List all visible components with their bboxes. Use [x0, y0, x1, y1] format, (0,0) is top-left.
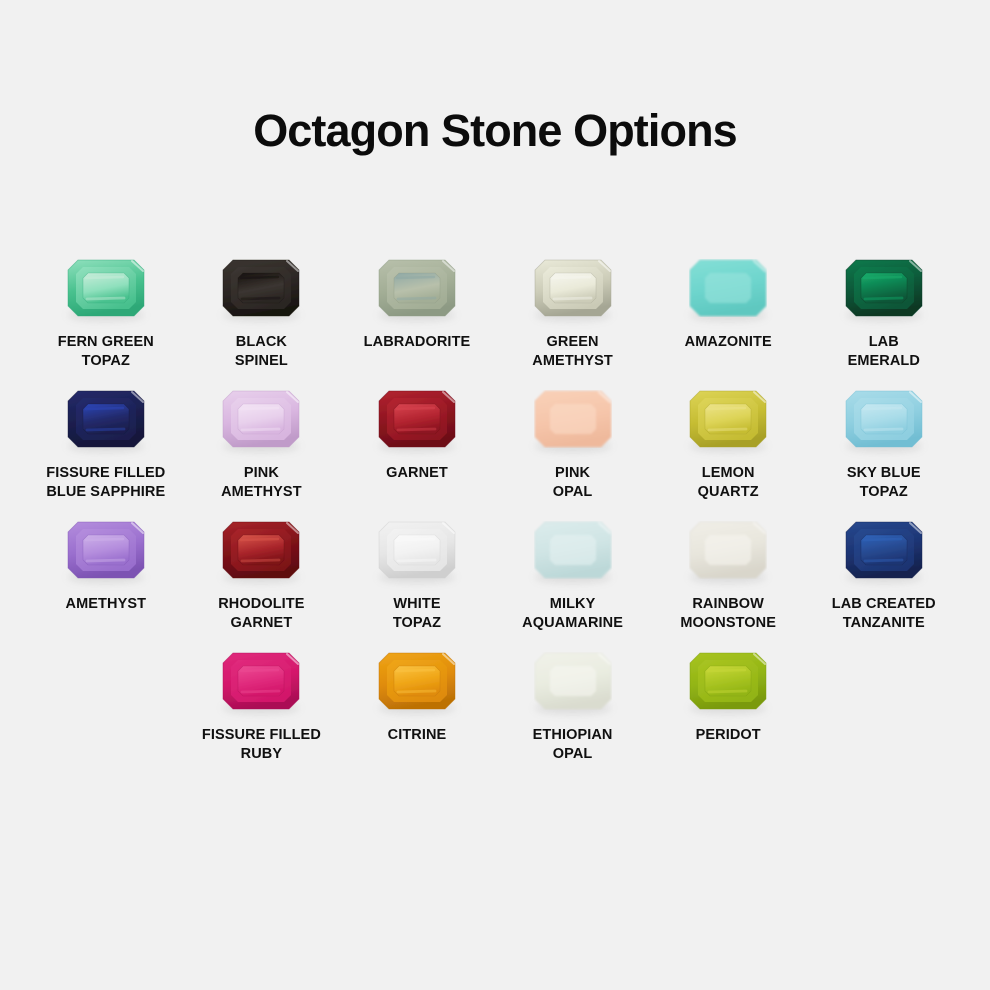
stone-option-garnet[interactable]: GARNET [339, 383, 495, 514]
octagon-gem-icon-pink-opal[interactable] [534, 390, 612, 448]
stone-label: BLACK SPINEL [235, 333, 288, 370]
octagon-gem-icon-labradorite[interactable] [378, 259, 456, 317]
stone-row: FERN GREEN TOPAZ [28, 252, 962, 383]
gem-image-wrap [378, 514, 456, 586]
stone-option-lemon-quartz[interactable]: LEMON QUARTZ [650, 383, 806, 514]
stone-label: SKY BLUE TOPAZ [847, 464, 921, 501]
stone-label: MILKY AQUAMARINE [522, 595, 623, 632]
octagon-gem-icon-ethiopian-opal[interactable] [534, 652, 612, 710]
octagon-gem-icon-garnet[interactable] [378, 390, 456, 448]
octagon-gem-icon-rhodolite-garnet[interactable] [222, 521, 300, 579]
stone-option-black-spinel[interactable]: BLACK SPINEL [184, 252, 340, 383]
gem-image-wrap [534, 252, 612, 324]
stone-row: AMETHYST [28, 514, 962, 645]
gem-image-wrap [67, 514, 145, 586]
gem-image-wrap [689, 645, 767, 717]
octagon-gem-icon-white-topaz[interactable] [378, 521, 456, 579]
stone-label: LABRADORITE [364, 333, 471, 352]
gem-image-wrap [378, 645, 456, 717]
stone-label: FISSURE FILLED BLUE SAPPHIRE [46, 464, 165, 501]
stone-option-amazonite[interactable]: AMAZONITE [650, 252, 806, 383]
gem-image-wrap [689, 252, 767, 324]
octagon-gem-icon-milky-aquamarine[interactable] [534, 521, 612, 579]
stone-option-citrine[interactable]: CITRINE [339, 645, 495, 776]
octagon-gem-icon-citrine[interactable] [378, 652, 456, 710]
gem-image-wrap [222, 645, 300, 717]
gem-image-wrap [222, 383, 300, 455]
stone-option-labradorite[interactable]: LABRADORITE [339, 252, 495, 383]
gem-image-wrap [845, 252, 923, 324]
gem-image-wrap [67, 252, 145, 324]
stone-option-rhodolite-garnet[interactable]: RHODOLITE GARNET [184, 514, 340, 645]
stone-option-green-amethyst[interactable]: GREEN AMETHYST [495, 252, 651, 383]
octagon-gem-icon-lab-emerald[interactable] [845, 259, 923, 317]
gem-image-wrap [378, 252, 456, 324]
gem-image-wrap [67, 383, 145, 455]
gem-image-wrap [378, 383, 456, 455]
stone-option-fissure-filled-ruby[interactable]: FISSURE FILLED RUBY [184, 645, 340, 776]
stone-label: FISSURE FILLED RUBY [202, 726, 321, 763]
stone-option-white-topaz[interactable]: WHITE TOPAZ [339, 514, 495, 645]
page-title: Octagon Stone Options [0, 108, 990, 153]
octagon-gem-icon-amethyst[interactable] [67, 521, 145, 579]
stone-option-fissure-filled-blue-sapphire[interactable]: FISSURE FILLED BLUE SAPPHIRE [28, 383, 184, 514]
gem-image-wrap [689, 383, 767, 455]
stone-option-amethyst[interactable]: AMETHYST [28, 514, 184, 645]
stone-row: FISSURE FILLED RUBY [28, 645, 962, 776]
octagon-gem-icon-amazonite[interactable] [689, 259, 767, 317]
stone-option-peridot[interactable]: PERIDOT [650, 645, 806, 776]
octagon-gem-icon-lemon-quartz[interactable] [689, 390, 767, 448]
octagon-gem-icon-sky-blue-topaz[interactable] [845, 390, 923, 448]
stone-option-pink-amethyst[interactable]: PINK AMETHYST [184, 383, 340, 514]
stone-label: RAINBOW MOONSTONE [680, 595, 776, 632]
gem-image-wrap [845, 383, 923, 455]
stone-option-lab-emerald[interactable]: LAB EMERALD [806, 252, 962, 383]
stone-label: GREEN AMETHYST [532, 333, 613, 370]
stone-label: ETHIOPIAN OPAL [533, 726, 613, 763]
octagon-gem-icon-fissure-filled-ruby[interactable] [222, 652, 300, 710]
stone-label: GARNET [386, 464, 448, 483]
stone-row: FISSURE FILLED BLUE SAPPHIRE [28, 383, 962, 514]
stone-label: PINK AMETHYST [221, 464, 302, 501]
octagon-gem-icon-green-amethyst[interactable] [534, 259, 612, 317]
stone-label: RHODOLITE GARNET [218, 595, 304, 632]
gem-image-wrap [534, 383, 612, 455]
gem-image-wrap [222, 252, 300, 324]
octagon-gem-icon-peridot[interactable] [689, 652, 767, 710]
stone-option-sky-blue-topaz[interactable]: SKY BLUE TOPAZ [806, 383, 962, 514]
octagon-gem-icon-lab-created-tanzanite[interactable] [845, 521, 923, 579]
octagon-gem-icon-pink-amethyst[interactable] [222, 390, 300, 448]
octagon-gem-icon-fissure-filled-blue-sapphire[interactable] [67, 390, 145, 448]
gem-image-wrap [845, 514, 923, 586]
octagon-gem-icon-black-spinel[interactable] [222, 259, 300, 317]
stone-label: PINK OPAL [553, 464, 593, 501]
gem-image-wrap [689, 514, 767, 586]
stone-option-milky-aquamarine[interactable]: MILKY AQUAMARINE [495, 514, 651, 645]
gem-image-wrap [222, 514, 300, 586]
gem-image-wrap [534, 645, 612, 717]
stone-label: AMETHYST [66, 595, 147, 614]
stone-label: LAB CREATED TANZANITE [832, 595, 936, 632]
stone-option-ethiopian-opal[interactable]: ETHIOPIAN OPAL [495, 645, 651, 776]
stone-label: PERIDOT [696, 726, 761, 745]
stone-option-rainbow-moonstone[interactable]: RAINBOW MOONSTONE [650, 514, 806, 645]
octagon-gem-icon-rainbow-moonstone[interactable] [689, 521, 767, 579]
gem-image-wrap [534, 514, 612, 586]
stone-label: WHITE TOPAZ [393, 595, 441, 632]
octagon-gem-icon-fern-green-topaz[interactable] [67, 259, 145, 317]
stone-grid: FERN GREEN TOPAZ [28, 252, 962, 776]
stone-options-page: Octagon Stone Options [0, 0, 990, 990]
stone-option-fern-green-topaz[interactable]: FERN GREEN TOPAZ [28, 252, 184, 383]
stone-label: AMAZONITE [685, 333, 772, 352]
stone-option-lab-created-tanzanite[interactable]: LAB CREATED TANZANITE [806, 514, 962, 645]
stone-option-pink-opal[interactable]: PINK OPAL [495, 383, 651, 514]
stone-label: LEMON QUARTZ [698, 464, 759, 501]
stone-label: CITRINE [388, 726, 447, 745]
stone-label: LAB EMERALD [848, 333, 920, 370]
stone-label: FERN GREEN TOPAZ [58, 333, 154, 370]
